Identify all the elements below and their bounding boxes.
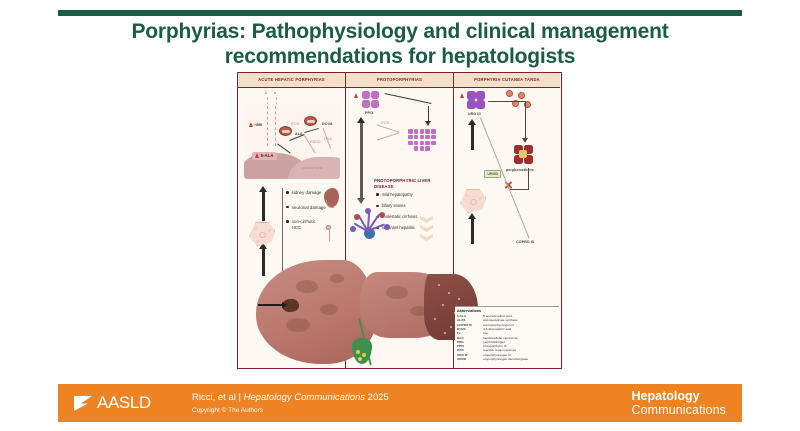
- column-body-protoporphyrias: PPIX ROS PROTOPORPHYRIC LIVER DISEASE: [346, 88, 453, 368]
- protoporphyric-liver-disease-title: PROTOPORPHYRIC LIVER DISEASE: [374, 178, 444, 189]
- copyright-line: Copyright © The Authors: [192, 407, 389, 414]
- uro-iii-molecule-icon: [467, 91, 487, 108]
- ppix-to-crystal-arrow: [384, 93, 431, 104]
- increase-arrow-icon: [460, 93, 464, 98]
- hepatocyte-icon: [460, 189, 486, 213]
- downward-progression-arrow: [360, 122, 363, 198]
- journal-logo: Hepatology Communications: [632, 389, 727, 417]
- bile-duct-node: [354, 214, 360, 220]
- outcome-label: neuronal damage: [292, 205, 326, 211]
- footer-bar: AASLD Ricci, et al | Hepatology Communic…: [58, 384, 742, 422]
- aasld-logo: AASLD: [72, 393, 182, 413]
- column-body-pct: URO III porphomethene: [454, 88, 560, 368]
- increase-arrow-icon: [274, 91, 276, 94]
- porphomethene-label: porphomethene: [506, 168, 534, 172]
- abbreviations-box: Abbreviations 5-ALA 5-aminolevulinic aci…: [455, 306, 559, 368]
- hmb-label-group: HMB: [249, 122, 262, 127]
- outcome-label: mild hepatopathy: [382, 192, 413, 197]
- increase-arrow-icon: [255, 153, 259, 158]
- bullet-dot-icon: [286, 191, 289, 194]
- figure-column-protoporphyrias: PROTOPORPHYRIAS PPIX ROS: [346, 73, 454, 368]
- citation-journal: Hepatology Communications: [244, 392, 365, 403]
- cell-granule: [254, 227, 257, 230]
- page-title: Porphyrias: Pathophysiology and clinical…: [60, 20, 740, 70]
- figure-columns: ACUTE HEPATIC PORPHYRIAS HMB: [238, 73, 561, 368]
- increase-arrow-icon: [249, 122, 253, 127]
- ros-cycle-arrow: [376, 132, 399, 140]
- outcome-label: kidney damage: [292, 190, 322, 196]
- upward-progression-arrow: [471, 218, 474, 244]
- citation-year: 2025: [368, 392, 389, 403]
- porphomethene-molecule-icon: [514, 145, 536, 165]
- chevron-down-icon: [420, 234, 433, 241]
- ros-label: ROS: [381, 121, 389, 125]
- uro-label: URO III: [468, 112, 481, 116]
- upward-progression-arrow: [471, 124, 474, 150]
- column-header-pct: PORPHYRIA CUTANEA TARDA: [454, 73, 560, 88]
- bile-duct-node: [350, 226, 356, 232]
- porphomethene-inhibition-arrow: [510, 189, 529, 190]
- ppix-molecule-icon: [362, 91, 382, 108]
- ppix-to-crystal-arrow: [428, 106, 429, 122]
- mitochondria-icon: [304, 116, 317, 126]
- pbgd-label: PBGD: [310, 140, 321, 144]
- nucleus-shape: [259, 232, 266, 238]
- biliary-tree-icon: [348, 202, 394, 242]
- copro-label: COPRO III: [516, 240, 534, 244]
- neuron-icon: [322, 225, 337, 242]
- slide-root: Porphyrias: Pathophysiology and clinical…: [0, 0, 800, 431]
- uro-to-porphomethene-arrow: [525, 101, 526, 139]
- upward-progression-arrow: [262, 248, 265, 276]
- dashed-connector: [275, 106, 276, 146]
- abbreviation-row: UROD uroporphyrinogen decarboxylase: [457, 357, 557, 361]
- bullet-dot-icon: [286, 220, 289, 223]
- bile-duct-node: [379, 212, 385, 218]
- mitochondria-label: mitochondria: [302, 166, 323, 170]
- ros-cycle-arrow: [376, 124, 399, 132]
- list-item: non-cirrhotic HCC: [286, 219, 326, 230]
- protoporphyrin-crystal-grid: [408, 129, 436, 151]
- pathway-arrow: [277, 143, 290, 153]
- iron-particle-icon: [506, 90, 513, 97]
- ppix-label: PPIX: [365, 111, 374, 115]
- ros-label: ROS: [291, 122, 299, 126]
- kidney-icon: [324, 188, 339, 207]
- journal-name-line2: Communications: [632, 403, 727, 417]
- figure-column-porphyria-cutanea-tarda: PORPHYRIA CUTANEA TARDA URO III: [454, 73, 560, 368]
- acute-outcome-list: kidney damage neuronal damage non-cirrho…: [286, 190, 326, 239]
- dova-label: DOVA: [322, 122, 333, 126]
- abbreviation-key: UROD: [457, 357, 483, 361]
- dashed-connector: [267, 106, 268, 146]
- bile-duct-node: [365, 208, 371, 214]
- bile-duct-node: [384, 224, 390, 230]
- ala-accumulation-badge: 5-ALA: [252, 152, 277, 160]
- column-header-protoporphyrias: PROTOPORPHYRIAS: [346, 73, 453, 88]
- cell-granule: [256, 240, 259, 243]
- bullet-dot-icon: [286, 206, 289, 209]
- abbreviation-value: uroporphyrinogen decarboxylase: [483, 357, 557, 361]
- citation-block: Ricci, et al | Hepatology Communications…: [192, 392, 389, 415]
- porphomethene-inhibition-arrow: [528, 168, 529, 190]
- pathway-arrow: [304, 136, 315, 153]
- column-header-acute: ACUTE HEPATIC PORPHYRIAS: [238, 73, 345, 88]
- abbreviations-title: Abbreviations: [457, 309, 557, 313]
- citation-separator: |: [238, 392, 240, 403]
- citation-authors: Ricci, et al: [192, 392, 236, 403]
- uro-to-porphomethene-arrow: [488, 101, 526, 102]
- aasld-swoosh-icon: [72, 393, 94, 413]
- increase-arrow-icon: [265, 91, 267, 94]
- cell-granule: [479, 197, 482, 200]
- upward-progression-arrow: [262, 191, 265, 221]
- column-body-acute: HMB ALA DOVA ROS PBGD DNA 5-A: [238, 88, 345, 368]
- copro-pathway-line: [480, 118, 529, 239]
- urod-enzyme-label: UROD: [484, 170, 501, 178]
- ala-badge-label: 5-ALA: [261, 153, 274, 158]
- mitochondria-icon: [279, 126, 292, 136]
- journal-name-line1: Hepatology: [632, 389, 727, 403]
- arrowhead-icon: [522, 138, 528, 143]
- outcome-label: non-cirrhotic HCC: [292, 219, 326, 230]
- cell-granule: [268, 229, 271, 232]
- nucleus-shape: [470, 199, 477, 205]
- figure-column-acute-hepatic-porphyrias: ACUTE HEPATIC PORPHYRIAS HMB: [238, 73, 346, 368]
- hmb-label: HMB: [254, 123, 262, 127]
- neuron-axon: [329, 230, 330, 241]
- iron-particle-icon: [518, 92, 525, 99]
- arrowhead-icon: [425, 121, 431, 126]
- aasld-wordmark: AASLD: [97, 393, 151, 413]
- hepatocyte-heme-pathway-diagram: HMB ALA DOVA ROS PBGD DNA 5-A: [244, 104, 340, 179]
- pathway-arrow: [304, 128, 319, 133]
- list-item: kidney damage: [286, 190, 326, 196]
- title-top-rule: [58, 10, 742, 16]
- cell-granule: [465, 194, 468, 197]
- list-item: mild hepatopathy: [376, 192, 448, 197]
- citation-line: Ricci, et al | Hepatology Communications…: [192, 392, 389, 405]
- increase-arrow-icon: [354, 93, 358, 98]
- hepatocyte-icon: [249, 222, 275, 246]
- figure-panel: ACUTE HEPATIC PORPHYRIAS HMB: [237, 72, 562, 369]
- outcome-connector-line: [282, 188, 283, 286]
- list-item: neuronal damage: [286, 205, 326, 211]
- bullet-dot-icon: [376, 193, 379, 196]
